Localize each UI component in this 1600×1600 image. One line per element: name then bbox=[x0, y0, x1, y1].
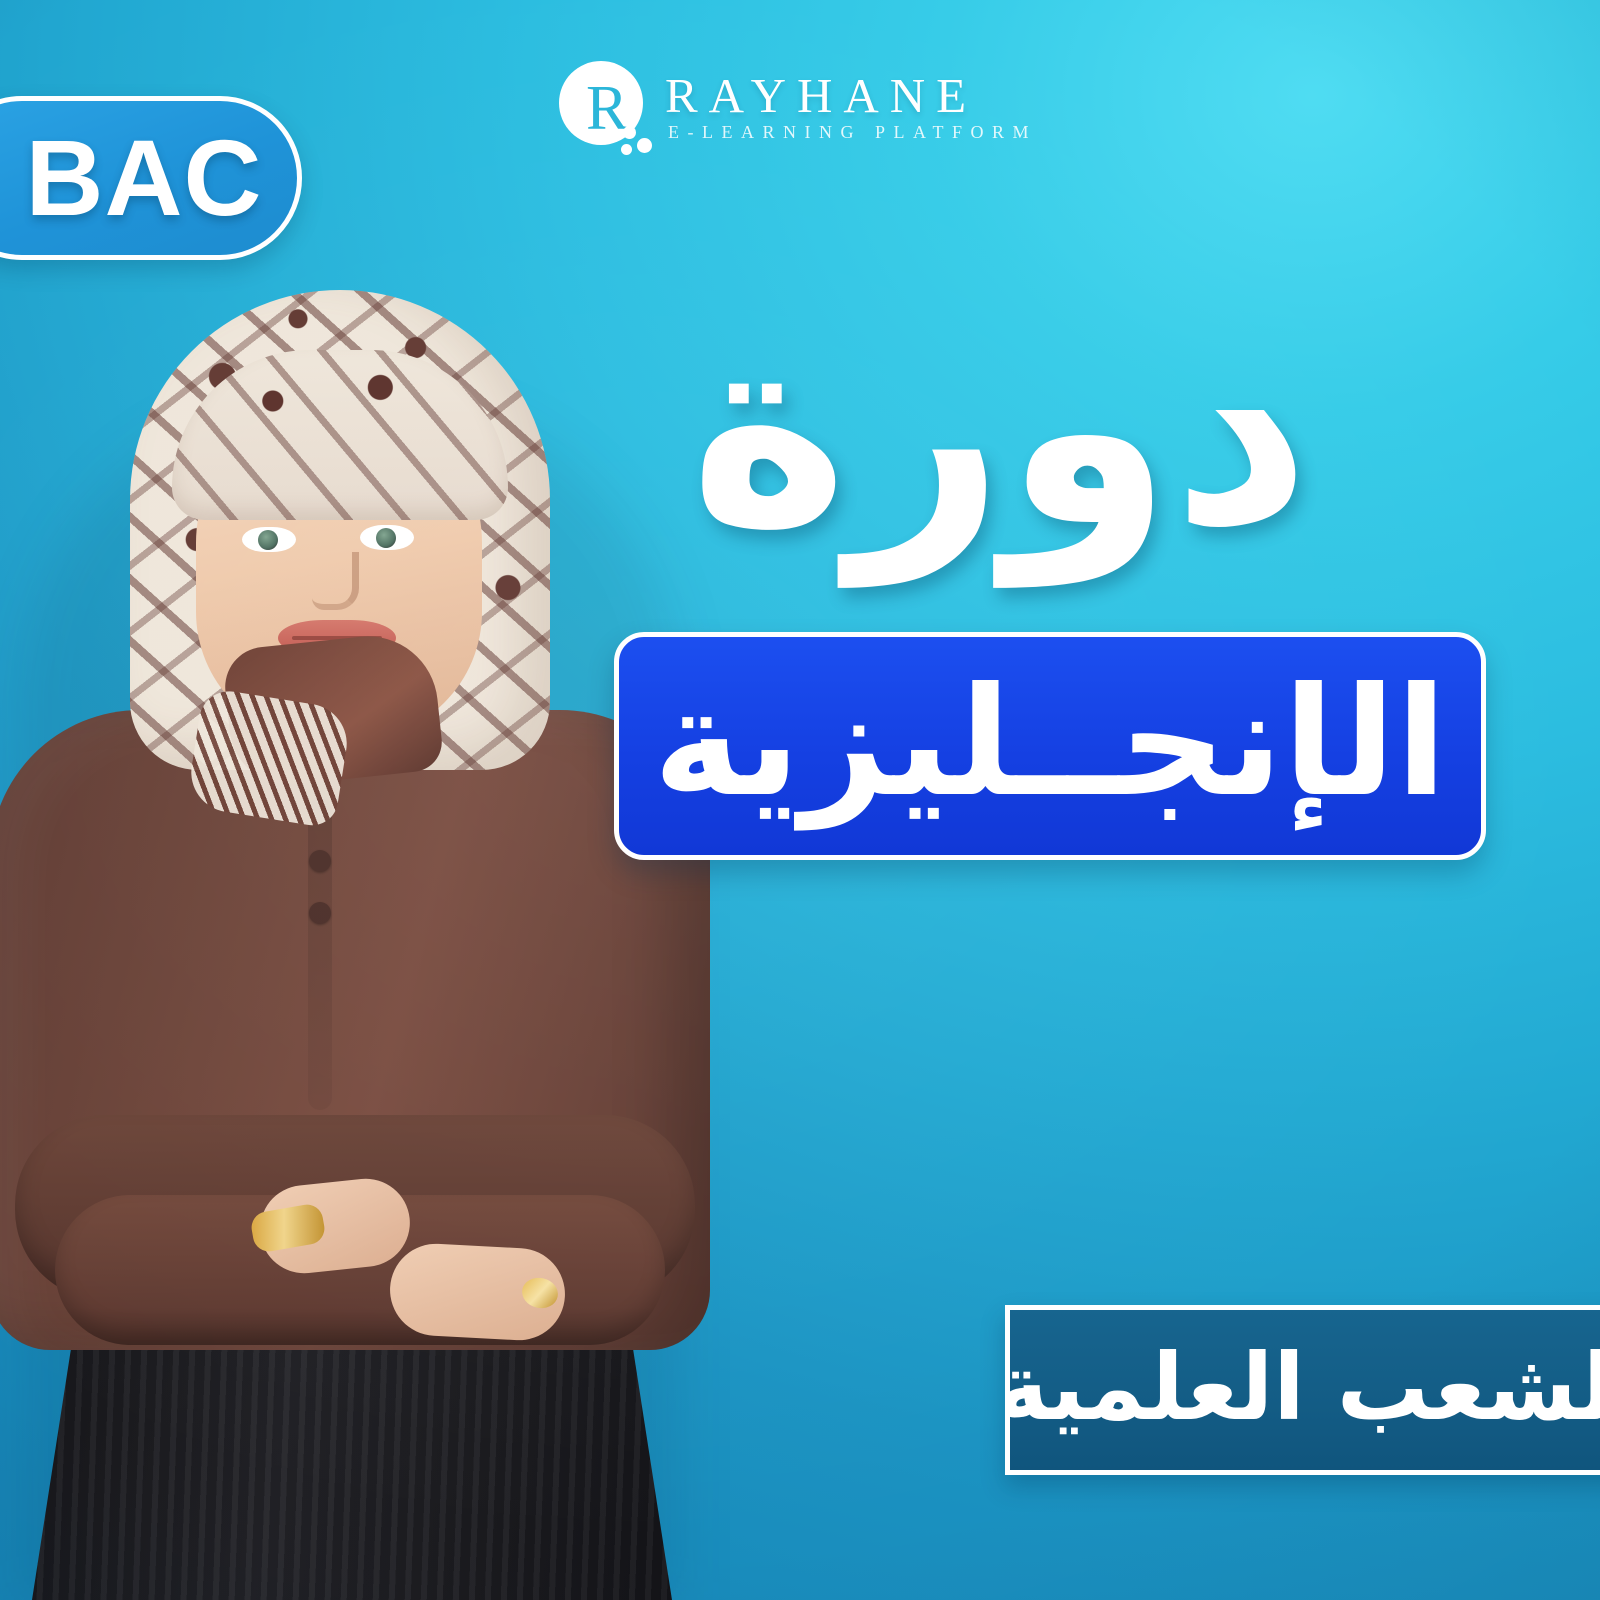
logo-dot bbox=[623, 126, 636, 139]
exam-level-badge[interactable]: BAC bbox=[0, 96, 302, 260]
iris-right bbox=[376, 528, 396, 548]
eye-left bbox=[242, 527, 296, 552]
eye-right bbox=[360, 525, 414, 550]
brand-text-block: RAYHANE E-LEARNING PLATFORM bbox=[665, 71, 1037, 142]
course-promo-poster: BAC R RAYHANE E-LEARNING PLATFORM دورة ا… bbox=[0, 0, 1600, 1600]
brand-name: RAYHANE bbox=[665, 71, 1037, 121]
nose bbox=[312, 552, 359, 610]
blouse-button bbox=[309, 850, 331, 872]
logo-dot bbox=[621, 144, 632, 155]
stream-label: الشعب العلمية bbox=[1005, 1342, 1600, 1434]
subject-label: الإنجــليزية bbox=[653, 668, 1447, 818]
subject-banner[interactable]: الإنجــليزية bbox=[614, 632, 1486, 860]
brand-logo[interactable]: R RAYHANE E-LEARNING PLATFORM bbox=[555, 58, 1037, 154]
iris-left bbox=[258, 530, 278, 550]
blouse-placket bbox=[308, 780, 332, 1110]
circle-r-logo-icon: R bbox=[555, 58, 651, 154]
blouse-button bbox=[309, 902, 331, 924]
brand-tagline: E-LEARNING PLATFORM bbox=[665, 123, 1037, 141]
stream-badge[interactable]: الشعب العلمية bbox=[1005, 1305, 1600, 1475]
logo-letter-r: R bbox=[586, 77, 628, 140]
page-title: دورة bbox=[650, 278, 1350, 580]
instructor-portrait bbox=[0, 270, 760, 1600]
exam-level-label: BAC bbox=[0, 124, 262, 232]
logo-dot bbox=[637, 138, 652, 153]
